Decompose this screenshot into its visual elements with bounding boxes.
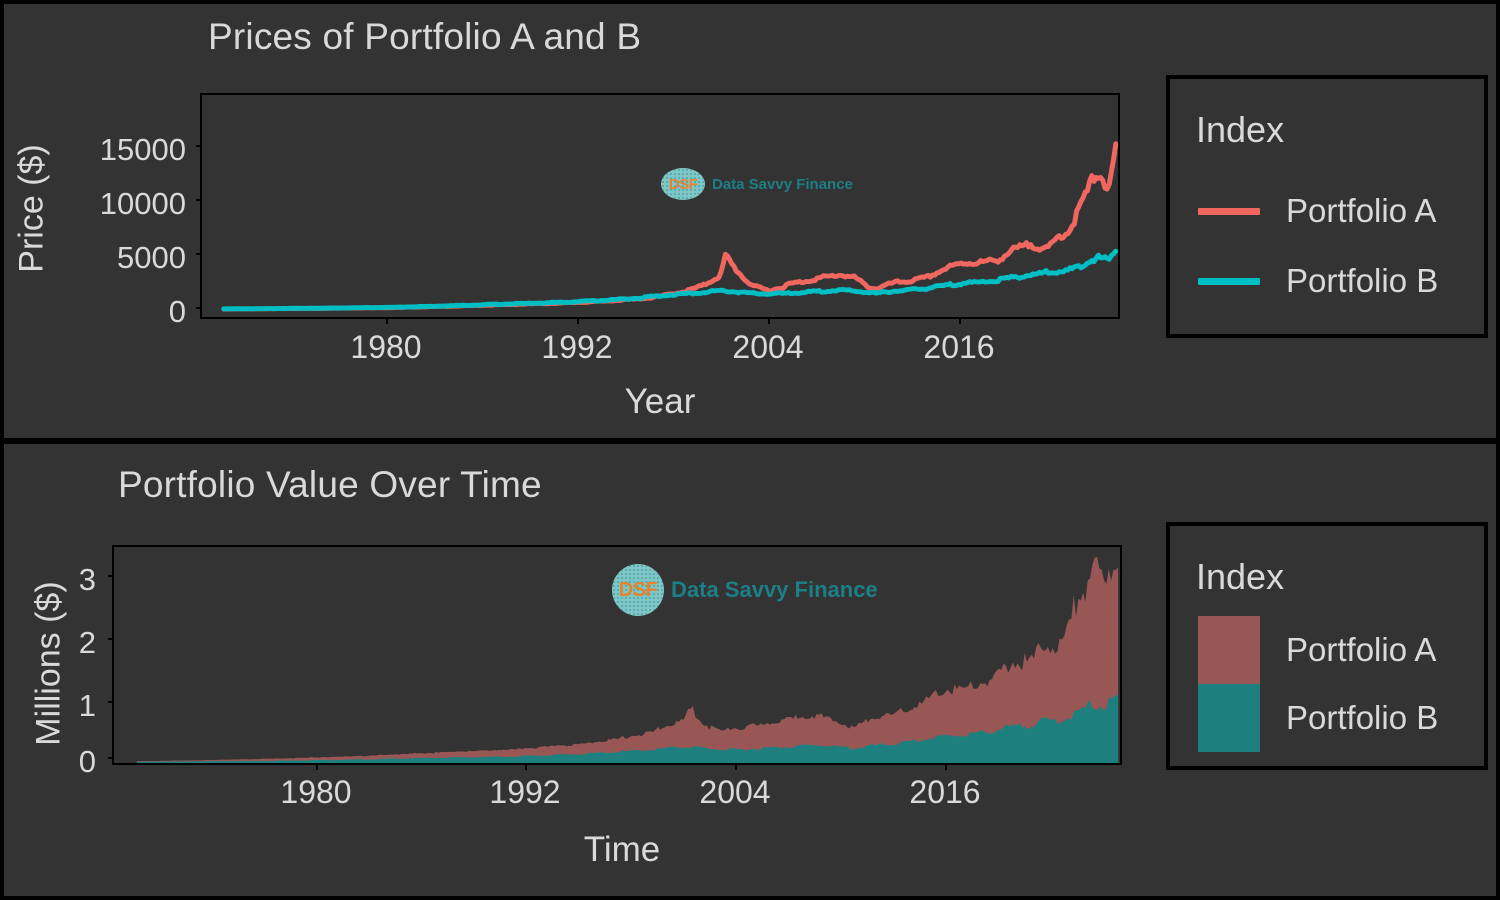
prices-line-svg [202, 95, 1118, 317]
legend-key-line-portfolio-b [1198, 278, 1260, 285]
y-tick-label: 5000 [64, 240, 186, 276]
x-axis-label-time: Time [552, 830, 692, 870]
x-tick-label: 1980 [316, 329, 456, 366]
legend-label-portfolio-a: Portfolio A [1286, 631, 1436, 669]
panel-value: Portfolio Value Over Time Millions ($) 3… [4, 444, 1496, 896]
legend-item-portfolio-b[interactable]: Portfolio B [1198, 684, 1438, 752]
legend-label-portfolio-b: Portfolio B [1286, 699, 1438, 737]
x-tick-mark [945, 763, 947, 770]
legend-value: Index Portfolio A Portfolio B [1166, 522, 1488, 770]
x-tick-mark [316, 763, 318, 770]
x-tick-label: 1992 [455, 774, 595, 811]
x-tick-mark [525, 763, 527, 770]
y-tick-label: 10000 [64, 186, 186, 222]
legend-title: Index [1196, 556, 1284, 598]
y-tick-label: 15000 [64, 132, 186, 168]
legend-label-portfolio-b: Portfolio B [1286, 262, 1438, 300]
legend-item-portfolio-a[interactable]: Portfolio A [1198, 192, 1436, 230]
x-axis-label-year: Year [590, 382, 730, 422]
plot-area-value [112, 545, 1122, 765]
legend-key-swatch-portfolio-b [1198, 684, 1260, 752]
x-tick-mark [386, 317, 388, 324]
x-tick-mark [735, 763, 737, 770]
panel-prices: Prices of Portfolio A and B Price ($) 15… [4, 4, 1496, 438]
x-tick-label: 2016 [889, 329, 1029, 366]
y-tick-label: 2 [34, 625, 96, 661]
legend-key-swatch-portfolio-a [1198, 616, 1260, 684]
figure-root: Prices of Portfolio A and B Price ($) 15… [0, 0, 1500, 900]
panel-title-prices: Prices of Portfolio A and B [208, 16, 641, 58]
legend-prices: Index Portfolio A Portfolio B [1166, 75, 1488, 338]
panel-title-value: Portfolio Value Over Time [118, 464, 542, 506]
legend-title: Index [1196, 109, 1284, 151]
x-tick-label: 2016 [875, 774, 1015, 811]
x-tick-mark [577, 317, 579, 324]
legend-label-portfolio-a: Portfolio A [1286, 192, 1436, 230]
y-tick-label: 1 [34, 688, 96, 724]
plot-area-prices [200, 93, 1120, 319]
x-tick-label: 1992 [507, 329, 647, 366]
y-tick-label: 3 [34, 562, 96, 598]
x-tick-mark [959, 317, 961, 324]
x-tick-label: 1980 [246, 774, 386, 811]
y-axis-label-price: Price ($) [13, 144, 52, 274]
legend-item-portfolio-b[interactable]: Portfolio B [1198, 262, 1438, 300]
legend-key-line-portfolio-a [1198, 208, 1260, 215]
value-area-svg [114, 547, 1120, 763]
legend-item-portfolio-a[interactable]: Portfolio A [1198, 616, 1436, 684]
y-tick-label: 0 [34, 744, 96, 780]
x-tick-label: 2004 [665, 774, 805, 811]
y-tick-label: 0 [64, 294, 186, 330]
x-tick-label: 2004 [698, 329, 838, 366]
x-tick-mark [768, 317, 770, 324]
